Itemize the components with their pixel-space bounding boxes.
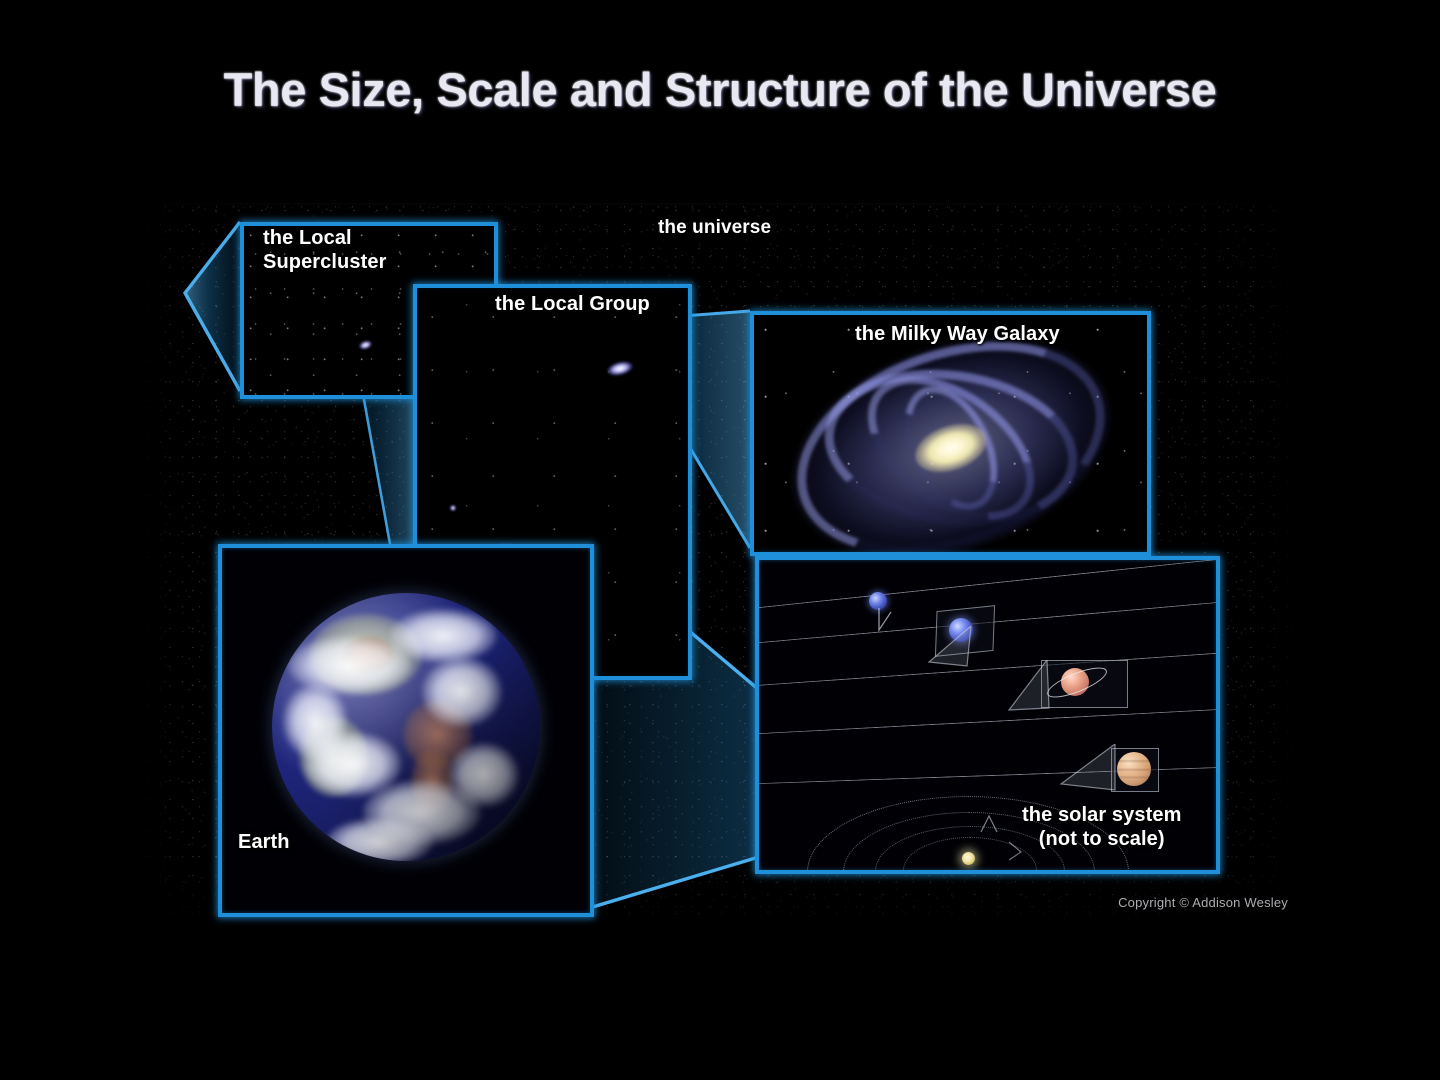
panel-earth[interactable] <box>218 544 594 917</box>
inner-planet-pointer <box>977 812 1007 838</box>
saturn-wedge <box>1007 660 1053 716</box>
label-local-group: the Local Group <box>495 293 650 317</box>
earth-terminator <box>272 593 540 861</box>
planet-jupiter <box>1117 752 1151 786</box>
localgroup-dwarf-galaxy <box>450 505 456 511</box>
earth-globe <box>272 593 540 861</box>
uranus-wedge <box>927 626 973 672</box>
label-milky-way-galaxy: the Milky Way Galaxy <box>855 323 1060 347</box>
sun <box>962 852 975 865</box>
neptune-pointer <box>863 604 903 640</box>
label-earth: Earth <box>238 831 290 855</box>
slide: The Size, Scale and Structure of the Uni… <box>0 0 1440 1080</box>
page-title: The Size, Scale and Structure of the Uni… <box>0 62 1440 117</box>
jupiter-wedge <box>1059 744 1119 796</box>
orbit-arc <box>755 701 1220 741</box>
copyright-credit: Copyright © Addison Wesley <box>1118 895 1288 910</box>
milky-way-spiral-art <box>754 315 1147 552</box>
label-local-supercluster: the Local Supercluster <box>263 227 386 274</box>
label-the-universe: the universe <box>658 217 771 239</box>
panel-milky-way-galaxy[interactable] <box>750 311 1151 556</box>
universe-scale-diagram: the universe <box>140 203 1300 938</box>
label-solar-system: the solar system (not to scale) <box>1022 803 1181 852</box>
